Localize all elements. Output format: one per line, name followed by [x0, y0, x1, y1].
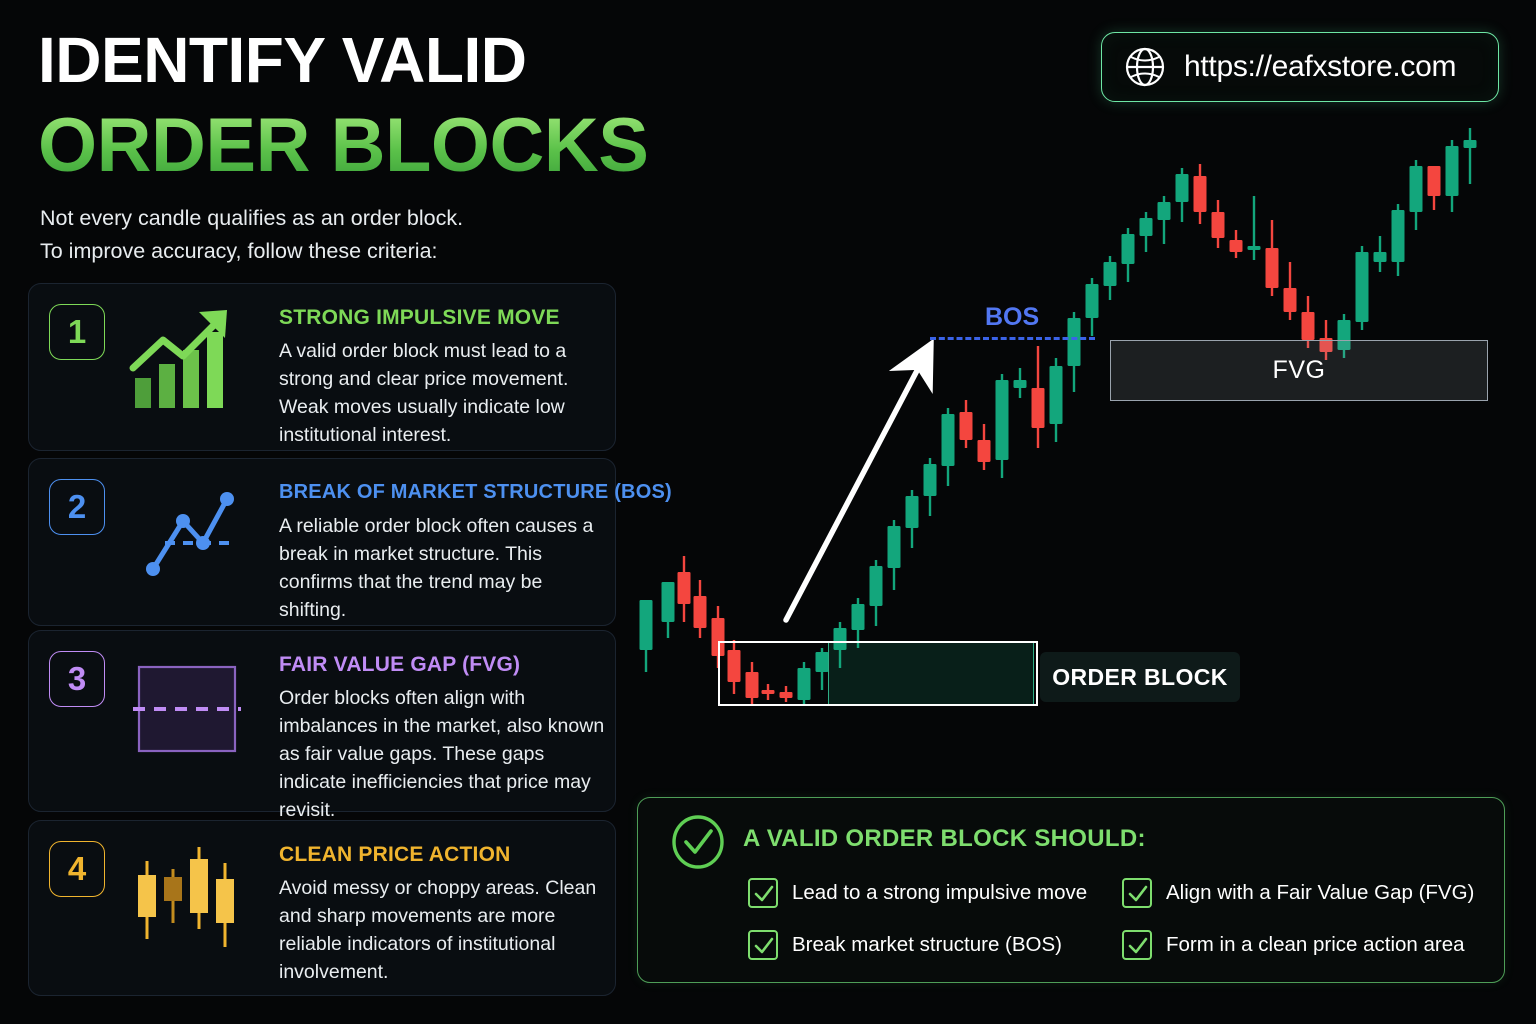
- website-url-badge[interactable]: https://eafxstore.com: [1101, 32, 1499, 102]
- card-body: Avoid messy or choppy areas. Clean and s…: [279, 875, 609, 987]
- page-title-line1: IDENTIFY VALID: [38, 28, 526, 92]
- criteria-card-4[interactable]: 4 CLEAN PRICE ACTION Avoid messy or chop…: [28, 820, 616, 996]
- check-circle-icon: [670, 814, 726, 870]
- card-number-badge: 3: [49, 651, 105, 707]
- card-body: A reliable order block often causes a br…: [279, 513, 609, 625]
- checkbox-icon[interactable]: [1122, 930, 1152, 960]
- bos-dashed-line: [930, 337, 1095, 340]
- website-url-text: https://eafxstore.com: [1184, 50, 1456, 84]
- card-number-badge: 1: [49, 304, 105, 360]
- checkbox-icon[interactable]: [748, 878, 778, 908]
- card-number-badge: 4: [49, 841, 105, 897]
- checklist-heading: A VALID ORDER BLOCK SHOULD:: [743, 825, 1146, 853]
- card-heading: STRONG IMPULSIVE MOVE: [279, 306, 560, 330]
- card-heading: FAIR VALUE GAP (FVG): [279, 653, 520, 677]
- infographic-root: IDENTIFY VALID ORDER BLOCKS Not every ca…: [0, 0, 1536, 1024]
- card-body: A valid order block must lead to a stron…: [279, 338, 609, 450]
- criteria-card-3[interactable]: 3 FAIR VALUE GAP (FVG) Order blocks ofte…: [28, 630, 616, 812]
- checklist-item-label: Form in a clean price action area: [1166, 933, 1465, 957]
- card-number-badge: 2: [49, 479, 105, 535]
- order-block-label: ORDER BLOCK: [1052, 664, 1228, 691]
- zigzag-line-icon: [125, 481, 255, 589]
- checklist-item-2[interactable]: Align with a Fair Value Gap (FVG): [1122, 878, 1474, 908]
- checklist-item-0[interactable]: Lead to a strong impulsive move: [748, 878, 1087, 908]
- bar-chart-uptrend-icon: [125, 306, 255, 414]
- order-block-label-box: ORDER BLOCK: [1040, 652, 1240, 702]
- gap-rectangle-icon: [125, 653, 255, 761]
- criteria-card-2[interactable]: 2 BREAK OF MARKET STRUCTURE (BOS) A reli…: [28, 458, 616, 626]
- fvg-label: FVG: [1273, 356, 1326, 385]
- page-subtitle: Not every candle qualifies as an order b…: [40, 202, 463, 269]
- bos-label: BOS: [985, 303, 1039, 332]
- fvg-zone-box: FVG: [1110, 340, 1488, 401]
- checkbox-icon[interactable]: [748, 930, 778, 960]
- checklist-item-label: Lead to a strong impulsive move: [792, 881, 1087, 905]
- card-heading: BREAK OF MARKET STRUCTURE (BOS): [279, 481, 672, 504]
- checklist-item-label: Break market structure (BOS): [792, 933, 1062, 957]
- checkbox-icon[interactable]: [1122, 878, 1152, 908]
- card-body: Order blocks often align with imbalances…: [279, 685, 609, 824]
- valid-order-block-checklist-panel: A VALID ORDER BLOCK SHOULD: Lead to a st…: [637, 797, 1505, 983]
- card-heading: CLEAN PRICE ACTION: [279, 843, 511, 867]
- checklist-item-label: Align with a Fair Value Gap (FVG): [1166, 881, 1474, 905]
- order-block-box: [718, 641, 1038, 706]
- checklist-item-3[interactable]: Form in a clean price action area: [1122, 930, 1465, 960]
- criteria-card-1[interactable]: 1 STRONG IMPULSIVE MOVE A valid order bl…: [28, 283, 616, 451]
- checklist-item-1[interactable]: Break market structure (BOS): [748, 930, 1062, 960]
- globe-icon: [1124, 46, 1166, 88]
- page-title-line2: ORDER BLOCKS: [38, 108, 648, 184]
- candlestick-icon: [125, 843, 255, 951]
